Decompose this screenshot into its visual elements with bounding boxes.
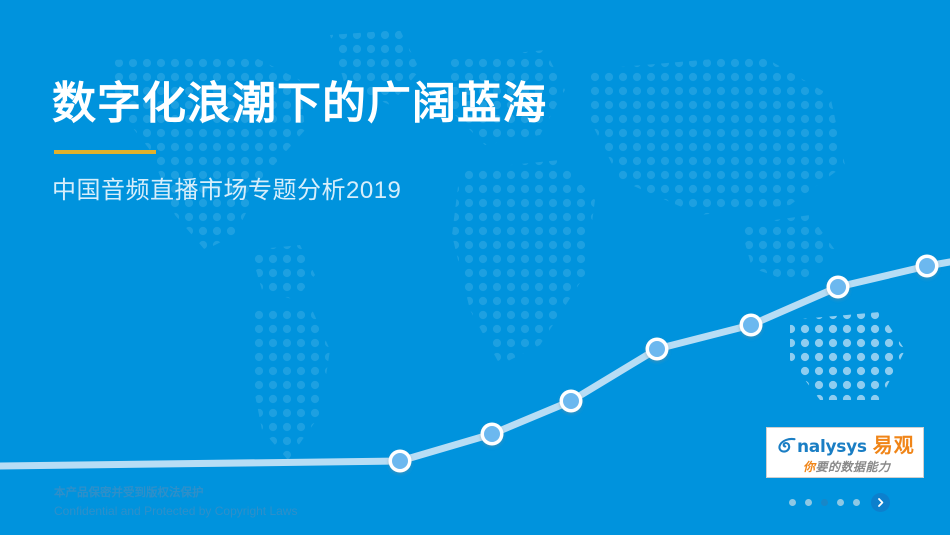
logo-wordmark: nalysys (797, 439, 867, 456)
analysys-swoosh-icon (777, 437, 796, 456)
chevron-right-icon (875, 497, 886, 508)
logo-tagline: 你要的数据能力 (803, 458, 891, 475)
next-slide-button[interactable] (871, 493, 890, 512)
logo-wordmark-cn: 易观 (873, 436, 915, 456)
page-dot-3[interactable] (821, 499, 828, 506)
logo-tagline-first: 你 (803, 460, 816, 474)
copyright-en: Confidential and Protected by Copyright … (54, 502, 297, 521)
pagination[interactable] (789, 493, 890, 512)
page-dot-5[interactable] (853, 499, 860, 506)
logo-tagline-rest: 要的数据能力 (816, 460, 891, 474)
copyright-notice: 本产品保密并受到版权法保护 Confidential and Protected… (54, 484, 297, 522)
title-divider (54, 150, 156, 154)
page-dot-4[interactable] (837, 499, 844, 506)
copyright-cn: 本产品保密并受到版权法保护 (54, 484, 297, 502)
title-slide: 数字化浪潮下的广阔蓝海 中国音频直播市场专题分析2019 本产品保密并受到版权法… (0, 0, 950, 535)
logo-wordmark-row: nalysys 易观 (777, 436, 915, 456)
page-title: 数字化浪潮下的广阔蓝海 (52, 78, 672, 130)
page-subtitle: 中国音频直播市场专题分析2019 (52, 170, 672, 205)
page-dot-2[interactable] (805, 499, 812, 506)
analysys-logo: nalysys 易观 你要的数据能力 (766, 427, 924, 478)
title-block: 数字化浪潮下的广阔蓝海 中国音频直播市场专题分析2019 (52, 78, 672, 205)
page-dot-1[interactable] (789, 499, 796, 506)
